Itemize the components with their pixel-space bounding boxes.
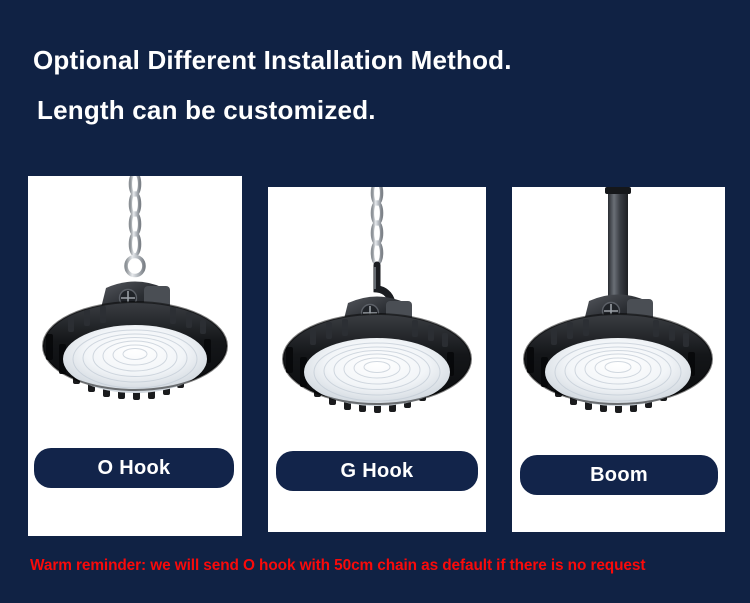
heading-line-1: Optional Different Installation Method. [33,45,512,76]
label-boom[interactable]: Boom [520,455,718,495]
boom-pole [608,187,628,305]
o-ring [126,257,144,276]
chain-o-hook [130,176,139,255]
label-o-hook[interactable]: O Hook [34,448,234,488]
warm-reminder-text: Warm reminder: we will send O hook with … [30,557,645,575]
heading-line-2: Length can be customized. [37,95,376,126]
pole-cap [605,187,631,194]
promo-banner: Optional Different Installation Method. … [0,0,750,603]
chain-g-hook [372,187,381,264]
label-g-hook[interactable]: G Hook [276,451,478,491]
